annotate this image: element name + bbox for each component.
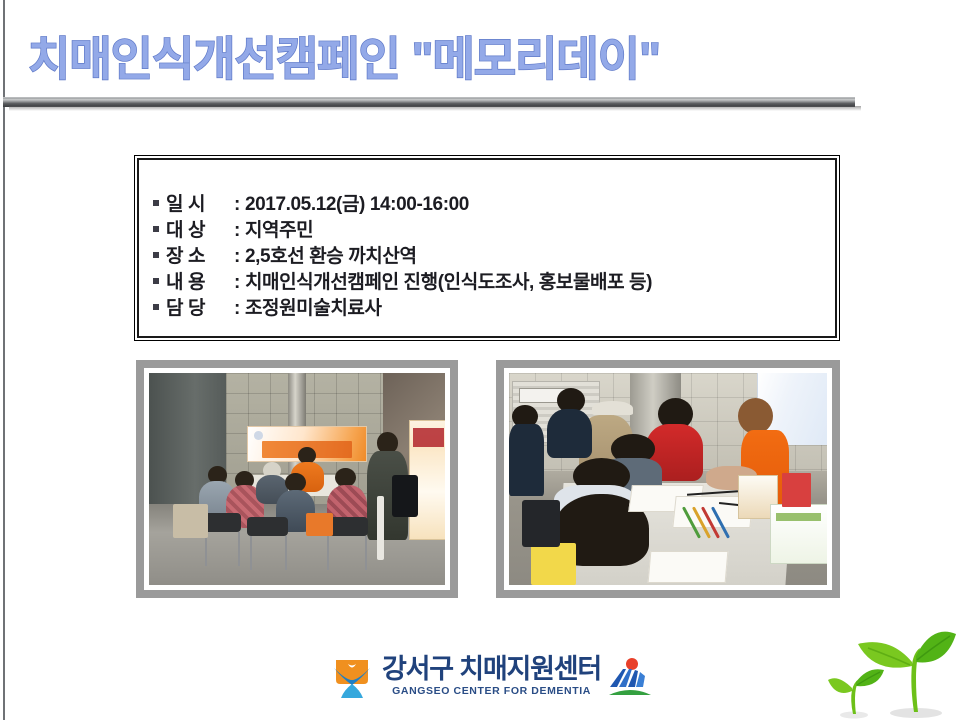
- campaign-booth-photo-frame: [136, 360, 458, 598]
- detail-row-content: 내 용 : 치매인식개선캠페인 진행(인식도조사, 홍보물배포 등): [153, 270, 835, 295]
- detail-label: 일 시: [166, 192, 234, 217]
- detail-label: 장 소: [166, 244, 234, 269]
- detail-value: 치매인식개선캠페인 진행(인식도조사, 홍보물배포 등): [245, 270, 652, 295]
- red-folder: [782, 473, 811, 507]
- folding-chair: [202, 513, 240, 532]
- chair-leg: [238, 532, 240, 566]
- survey-table-photo: [509, 373, 827, 585]
- square-bullet-icon: [153, 200, 159, 206]
- detail-label: 대 상: [166, 218, 234, 243]
- detail-separator: :: [234, 270, 240, 295]
- chair-back: [522, 500, 560, 547]
- survey-form: [648, 551, 729, 583]
- visitor-cap: [592, 401, 633, 416]
- detail-value: 2,5호선 환승 까치산역: [245, 244, 417, 269]
- visitor-navy-shirt: [547, 409, 592, 458]
- detail-row-date: 일 시 : 2017.05.12(금) 14:00-16:00: [153, 192, 835, 217]
- divider-bar-shadow: [9, 106, 861, 111]
- folding-chair: [247, 517, 288, 536]
- visitor-body: [509, 424, 544, 496]
- detail-separator: :: [234, 192, 240, 217]
- chair-leg: [285, 536, 287, 570]
- square-bullet-icon: [153, 278, 159, 284]
- logo-korean-name: 강서구 치매지원센터: [382, 655, 601, 684]
- event-details-box-inner: 일 시 : 2017.05.12(금) 14:00-16:00 대 상 : 지역…: [137, 158, 837, 338]
- detail-row-location: 장 소 : 2,5호선 환승 까치산역: [153, 244, 835, 269]
- detail-label: 담 당: [166, 296, 234, 321]
- title-divider-bar: [3, 97, 855, 111]
- detail-separator: :: [234, 218, 240, 243]
- logo-text-block: 강서구 치매지원센터 GANGSEO CENTER FOR DEMENTIA: [382, 655, 601, 698]
- detail-row-audience: 대 상 : 지역주민: [153, 218, 835, 243]
- detail-value: 조정원미술치료사: [245, 296, 382, 321]
- square-bullet-icon: [153, 226, 159, 232]
- detail-value: 지역주민: [245, 218, 313, 243]
- event-details-box: 일 시 : 2017.05.12(금) 14:00-16:00 대 상 : 지역…: [134, 155, 840, 341]
- page-title: 치매인식개선캠페인 "메모리데이": [28, 26, 858, 94]
- chair-leg: [365, 536, 367, 570]
- detail-label: 내 용: [166, 270, 234, 295]
- detail-separator: :: [234, 244, 240, 269]
- center-logo-mark-icon: [330, 654, 374, 698]
- participant-head: [285, 473, 306, 492]
- square-bullet-icon: [153, 252, 159, 258]
- sprout-decoration-icon: [828, 618, 960, 720]
- orange-bag: [306, 513, 333, 536]
- yellow-bag: [531, 543, 576, 585]
- detail-value: 2017.05.12(금) 14:00-16:00: [245, 192, 469, 217]
- slide-canvas: 치매인식개선캠페인 "메모리데이" 일 시 : 2017.05.12(금) 14…: [0, 0, 960, 720]
- photo-mat: [504, 368, 832, 590]
- detail-row-staff: 담 당 : 조정원미술치료사: [153, 296, 835, 321]
- campaign-booth-photo: [149, 373, 445, 585]
- square-bullet-icon: [153, 304, 159, 310]
- photo-mat: [144, 368, 450, 590]
- detail-separator: :: [234, 296, 240, 321]
- umbrella: [377, 496, 384, 560]
- chair-leg: [250, 536, 252, 570]
- cart-box: [173, 504, 209, 538]
- logo-english-name: GANGSEO CENTER FOR DEMENTIA: [382, 684, 601, 698]
- standee-headline: [776, 513, 821, 521]
- poster-headline: [413, 428, 444, 447]
- visitor-head: [377, 432, 398, 453]
- survey-table-photo-frame: [496, 360, 840, 598]
- visitor-handbag: [392, 475, 419, 517]
- footer-logo: 강서구 치매지원센터 GANGSEO CENTER FOR DEMENTIA: [330, 648, 660, 704]
- gangseo-district-logo-icon: [607, 655, 653, 697]
- banner-logo-mark: [254, 431, 263, 440]
- chair-leg: [327, 536, 329, 570]
